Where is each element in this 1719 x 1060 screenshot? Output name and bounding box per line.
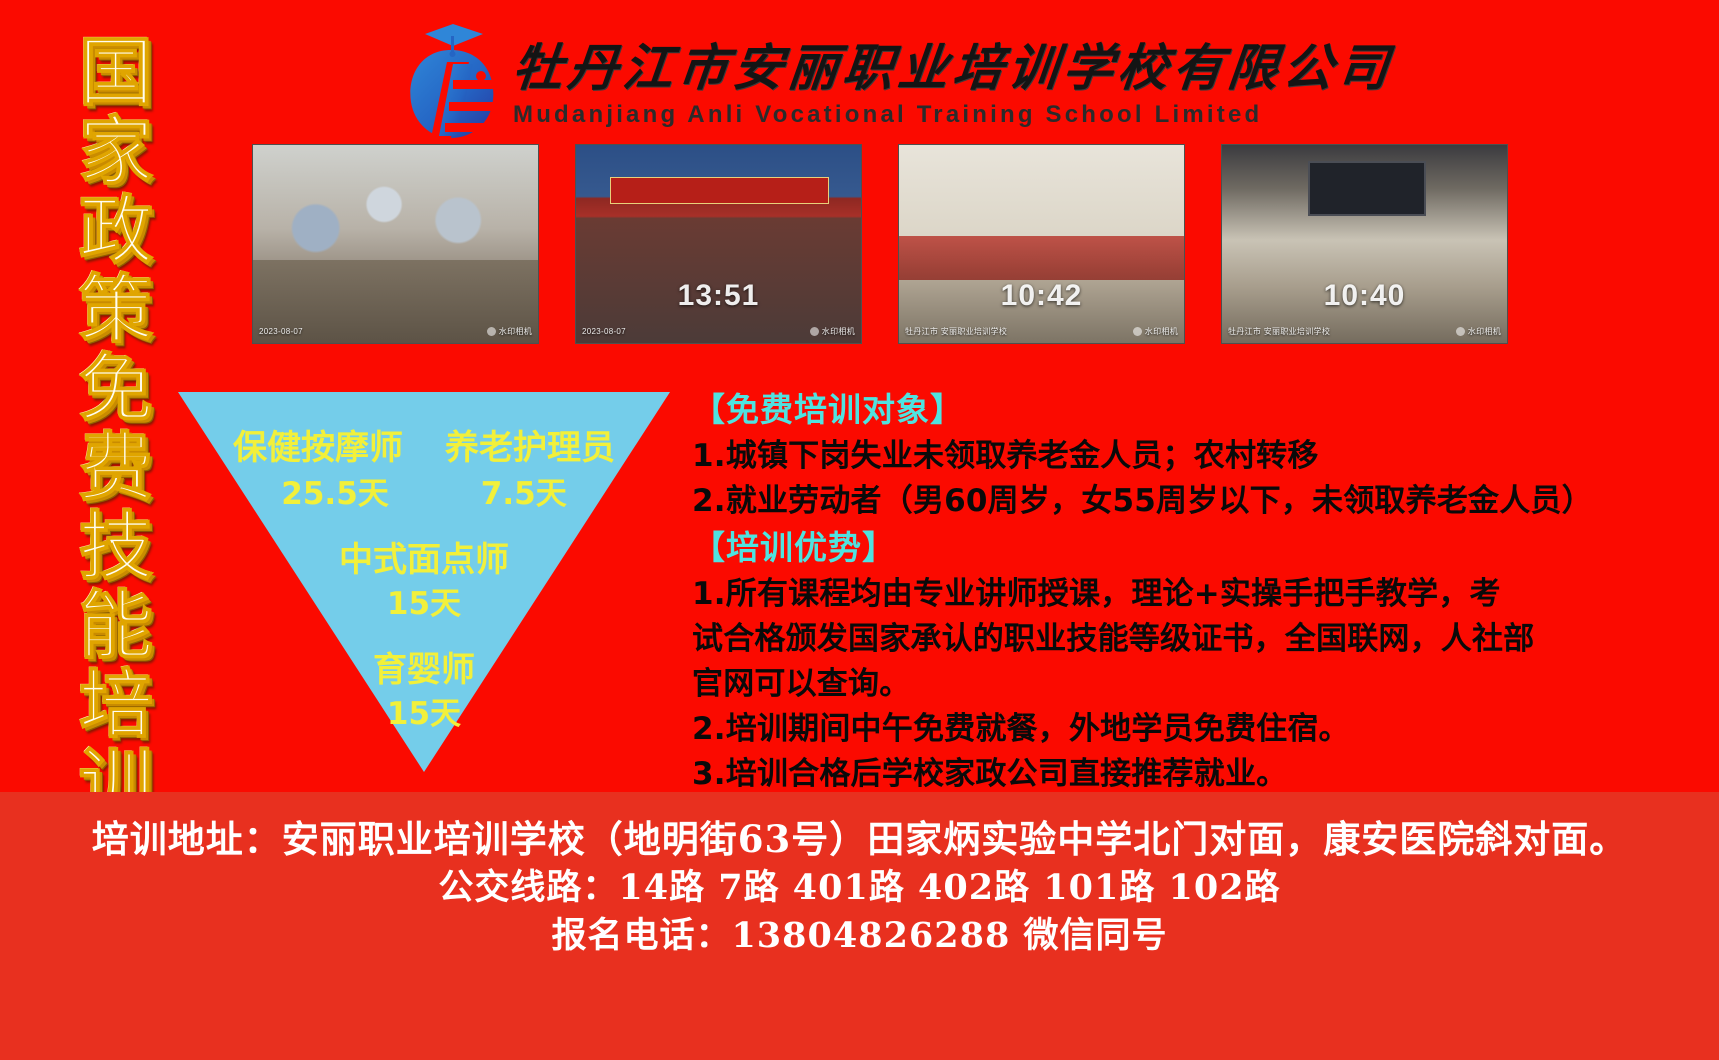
- section-heading-eligibility: 【免费培训对象】: [692, 386, 1512, 434]
- photo-watermark: 水印相机: [810, 326, 855, 337]
- vertical-title-char: 培: [79, 666, 153, 745]
- photo-watermark: 水印相机: [487, 326, 532, 337]
- poster-root: 国 家 政 策 免 费 技 能 培 训: [0, 0, 1719, 1060]
- vertical-title-char: 能: [79, 587, 153, 666]
- photo-meta: 牡丹江市 安丽职业培训学校 水印相机: [905, 326, 1178, 337]
- photo-timestamp: 10:40: [1324, 279, 1406, 313]
- photo-meta: 2023-08-07 水印相机: [259, 326, 532, 337]
- course-row-top: 保健按摩师 养老护理员: [178, 420, 670, 469]
- photo-location: 牡丹江市 安丽职业培训学校: [905, 326, 1007, 337]
- photo-thumbnail[interactable]: 10:40 牡丹江市 安丽职业培训学校 水印相机: [1221, 144, 1508, 344]
- photo-image: [253, 145, 538, 343]
- vertical-title-char: 国: [79, 34, 153, 113]
- advantage-line: 试合格颁发国家承认的职业技能等级证书，全国联网，人社部: [692, 617, 1512, 662]
- watermark-icon: [1456, 327, 1465, 336]
- vertical-title-char: 技: [79, 508, 153, 587]
- vertical-title-char: 家: [79, 113, 153, 192]
- footer-address: 培训地址：安丽职业培训学校（地明街63号）田家炳实验中学北门对面，康安医院斜对面…: [0, 814, 1719, 864]
- photo-timestamp: 10:42: [1001, 279, 1083, 313]
- photo-image: [576, 145, 861, 343]
- watermark-icon: [487, 327, 496, 336]
- course-duration-massage: 25.5天: [281, 468, 389, 513]
- vertical-title-char: 免: [79, 350, 153, 429]
- course-name-eldercare: 养老护理员: [435, 420, 625, 469]
- course-name-pastry: 中式面点师: [178, 532, 670, 581]
- photo-thumbnail[interactable]: 10:42 牡丹江市 安丽职业培训学校 水印相机: [898, 144, 1185, 344]
- photo-date: 2023-08-07: [259, 327, 303, 336]
- watermark-icon: [1133, 327, 1142, 336]
- advantage-line: 官网可以查询。: [692, 662, 1512, 707]
- eligibility-line: 2.就业劳动者（男60周岁，女55周岁以下，未领取养老金人员）: [692, 479, 1512, 524]
- photo-meta: 牡丹江市 安丽职业培训学校 水印相机: [1228, 326, 1501, 337]
- photo-watermark: 水印相机: [1133, 326, 1178, 337]
- triangle-text: 保健按摩师 养老护理员 25.5天 7.5天 中式面点师 15天 育婴师 15天: [178, 392, 670, 772]
- watermark-label: 水印相机: [1468, 326, 1501, 337]
- watermark-label: 水印相机: [499, 326, 532, 337]
- course-triangle: 保健按摩师 养老护理员 25.5天 7.5天 中式面点师 15天 育婴师 15天: [178, 392, 670, 772]
- photo-image: [1222, 145, 1507, 343]
- footer-phone: 报名电话：13804826288 微信同号: [0, 912, 1719, 960]
- photo-watermark: 水印相机: [1456, 326, 1501, 337]
- vertical-title: 国 家 政 策 免 费 技 能 培 训: [62, 34, 170, 824]
- photo-strip: 2023-08-07 水印相机 13:51 2023-08-07 水印相机 10…: [252, 144, 1508, 344]
- footer-bus-routes: 公交线路：14路 7路 401路 402路 101路 102路: [0, 864, 1719, 912]
- course-duration-row-top: 25.5天 7.5天: [178, 468, 670, 513]
- section-heading-advantages: 【培训优势】: [692, 524, 1512, 572]
- photo-thumbnail[interactable]: 13:51 2023-08-07 水印相机: [575, 144, 862, 344]
- graduation-cap-logo-icon: [395, 24, 507, 142]
- brand-name-cn: 牡丹江市安丽职业培训学校有限公司: [510, 40, 1396, 96]
- course-duration-pastry: 15天: [178, 578, 670, 623]
- photo-image: [899, 145, 1184, 343]
- eligibility-line: 1.城镇下岗失业未领取养老金人员；农村转移: [692, 434, 1512, 479]
- photo-timestamp: 13:51: [678, 279, 760, 313]
- photo-location: 牡丹江市 安丽职业培训学校: [1228, 326, 1330, 337]
- brand-name-en: Mudanjiang Anli Vocational Training Scho…: [513, 102, 1393, 128]
- advantage-line: 1.所有课程均由专业讲师授课，理论+实操手把手教学，考: [692, 572, 1512, 617]
- advantage-line: 3.培训合格后学校家政公司直接推荐就业。: [692, 752, 1512, 797]
- watermark-label: 水印相机: [822, 326, 855, 337]
- course-name-nanny: 育婴师: [178, 642, 670, 691]
- footer-contact-band: 培训地址：安丽职业培训学校（地明街63号）田家炳实验中学北门对面，康安医院斜对面…: [0, 792, 1719, 1060]
- vertical-title-char: 策: [79, 271, 153, 350]
- course-duration-eldercare: 7.5天: [481, 468, 567, 513]
- photo-thumbnail[interactable]: 2023-08-07 水印相机: [252, 144, 539, 344]
- watermark-label: 水印相机: [1145, 326, 1178, 337]
- photo-date: 2023-08-07: [582, 327, 626, 336]
- vertical-title-char: 费: [79, 429, 153, 508]
- advantage-line: 2.培训期间中午免费就餐，外地学员免费住宿。: [692, 707, 1512, 752]
- course-name-massage: 保健按摩师: [223, 420, 413, 469]
- brand-text: 牡丹江市安丽职业培训学校有限公司 Mudanjiang Anli Vocatio…: [513, 40, 1393, 128]
- vertical-title-char: 政: [79, 192, 153, 271]
- photo-meta: 2023-08-07 水印相机: [582, 326, 855, 337]
- course-duration-nanny: 15天: [178, 688, 670, 733]
- header: 牡丹江市安丽职业培训学校有限公司 Mudanjiang Anli Vocatio…: [395, 22, 1305, 142]
- watermark-icon: [810, 327, 819, 336]
- info-block: 【免费培训对象】 1.城镇下岗失业未领取养老金人员；农村转移 2.就业劳动者（男…: [692, 386, 1512, 797]
